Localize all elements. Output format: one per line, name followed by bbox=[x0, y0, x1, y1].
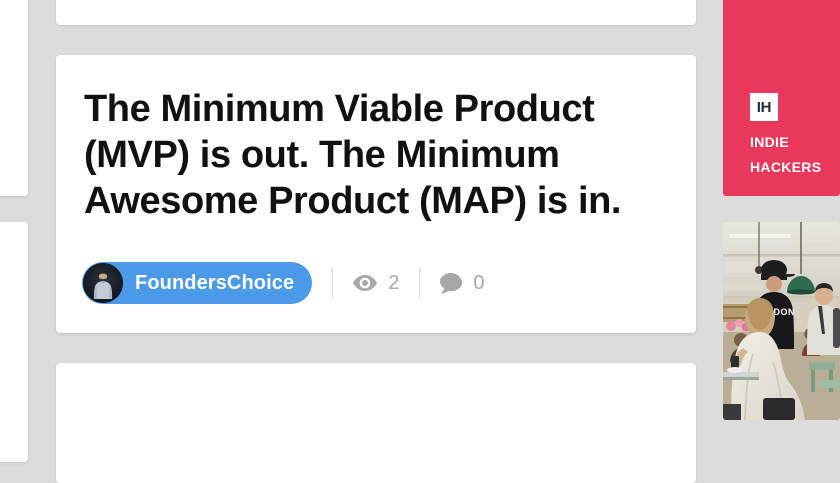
comments-stat: 0 bbox=[440, 272, 484, 295]
post-card[interactable]: The Minimum Viable Product (MVP) is out.… bbox=[56, 55, 696, 333]
author-name: FoundersChoice bbox=[135, 272, 294, 295]
meta-divider-2 bbox=[419, 268, 420, 298]
author-pill[interactable]: FoundersChoice bbox=[82, 262, 312, 304]
meta-divider-1 bbox=[332, 268, 333, 298]
post-meta-row: FoundersChoice 2 0 bbox=[82, 262, 484, 304]
feed-card-above[interactable] bbox=[56, 0, 696, 25]
promo-photo[interactable]: LONDON bbox=[723, 222, 840, 420]
feed-card-below[interactable] bbox=[56, 363, 696, 483]
brand-name-line-1: INDIE bbox=[750, 130, 821, 155]
avatar bbox=[83, 263, 123, 303]
adjacent-card-top[interactable] bbox=[0, 0, 28, 196]
logo-text: IH bbox=[757, 100, 771, 115]
indie-hackers-logo-icon: IH bbox=[750, 93, 778, 121]
post-title[interactable]: The Minimum Viable Product (MVP) is out.… bbox=[84, 86, 644, 224]
comment-bubble-icon bbox=[440, 273, 462, 294]
adjacent-card-bottom[interactable] bbox=[0, 222, 28, 462]
views-stat: 2 bbox=[353, 272, 399, 295]
brand-name-line-2: HACKERS bbox=[750, 155, 821, 180]
views-count: 2 bbox=[388, 272, 399, 295]
brand-panel[interactable]: IH INDIE HACKERS bbox=[723, 0, 840, 196]
brand-name: INDIE HACKERS bbox=[750, 130, 821, 180]
eye-icon bbox=[353, 275, 377, 291]
comments-count: 0 bbox=[473, 272, 484, 295]
